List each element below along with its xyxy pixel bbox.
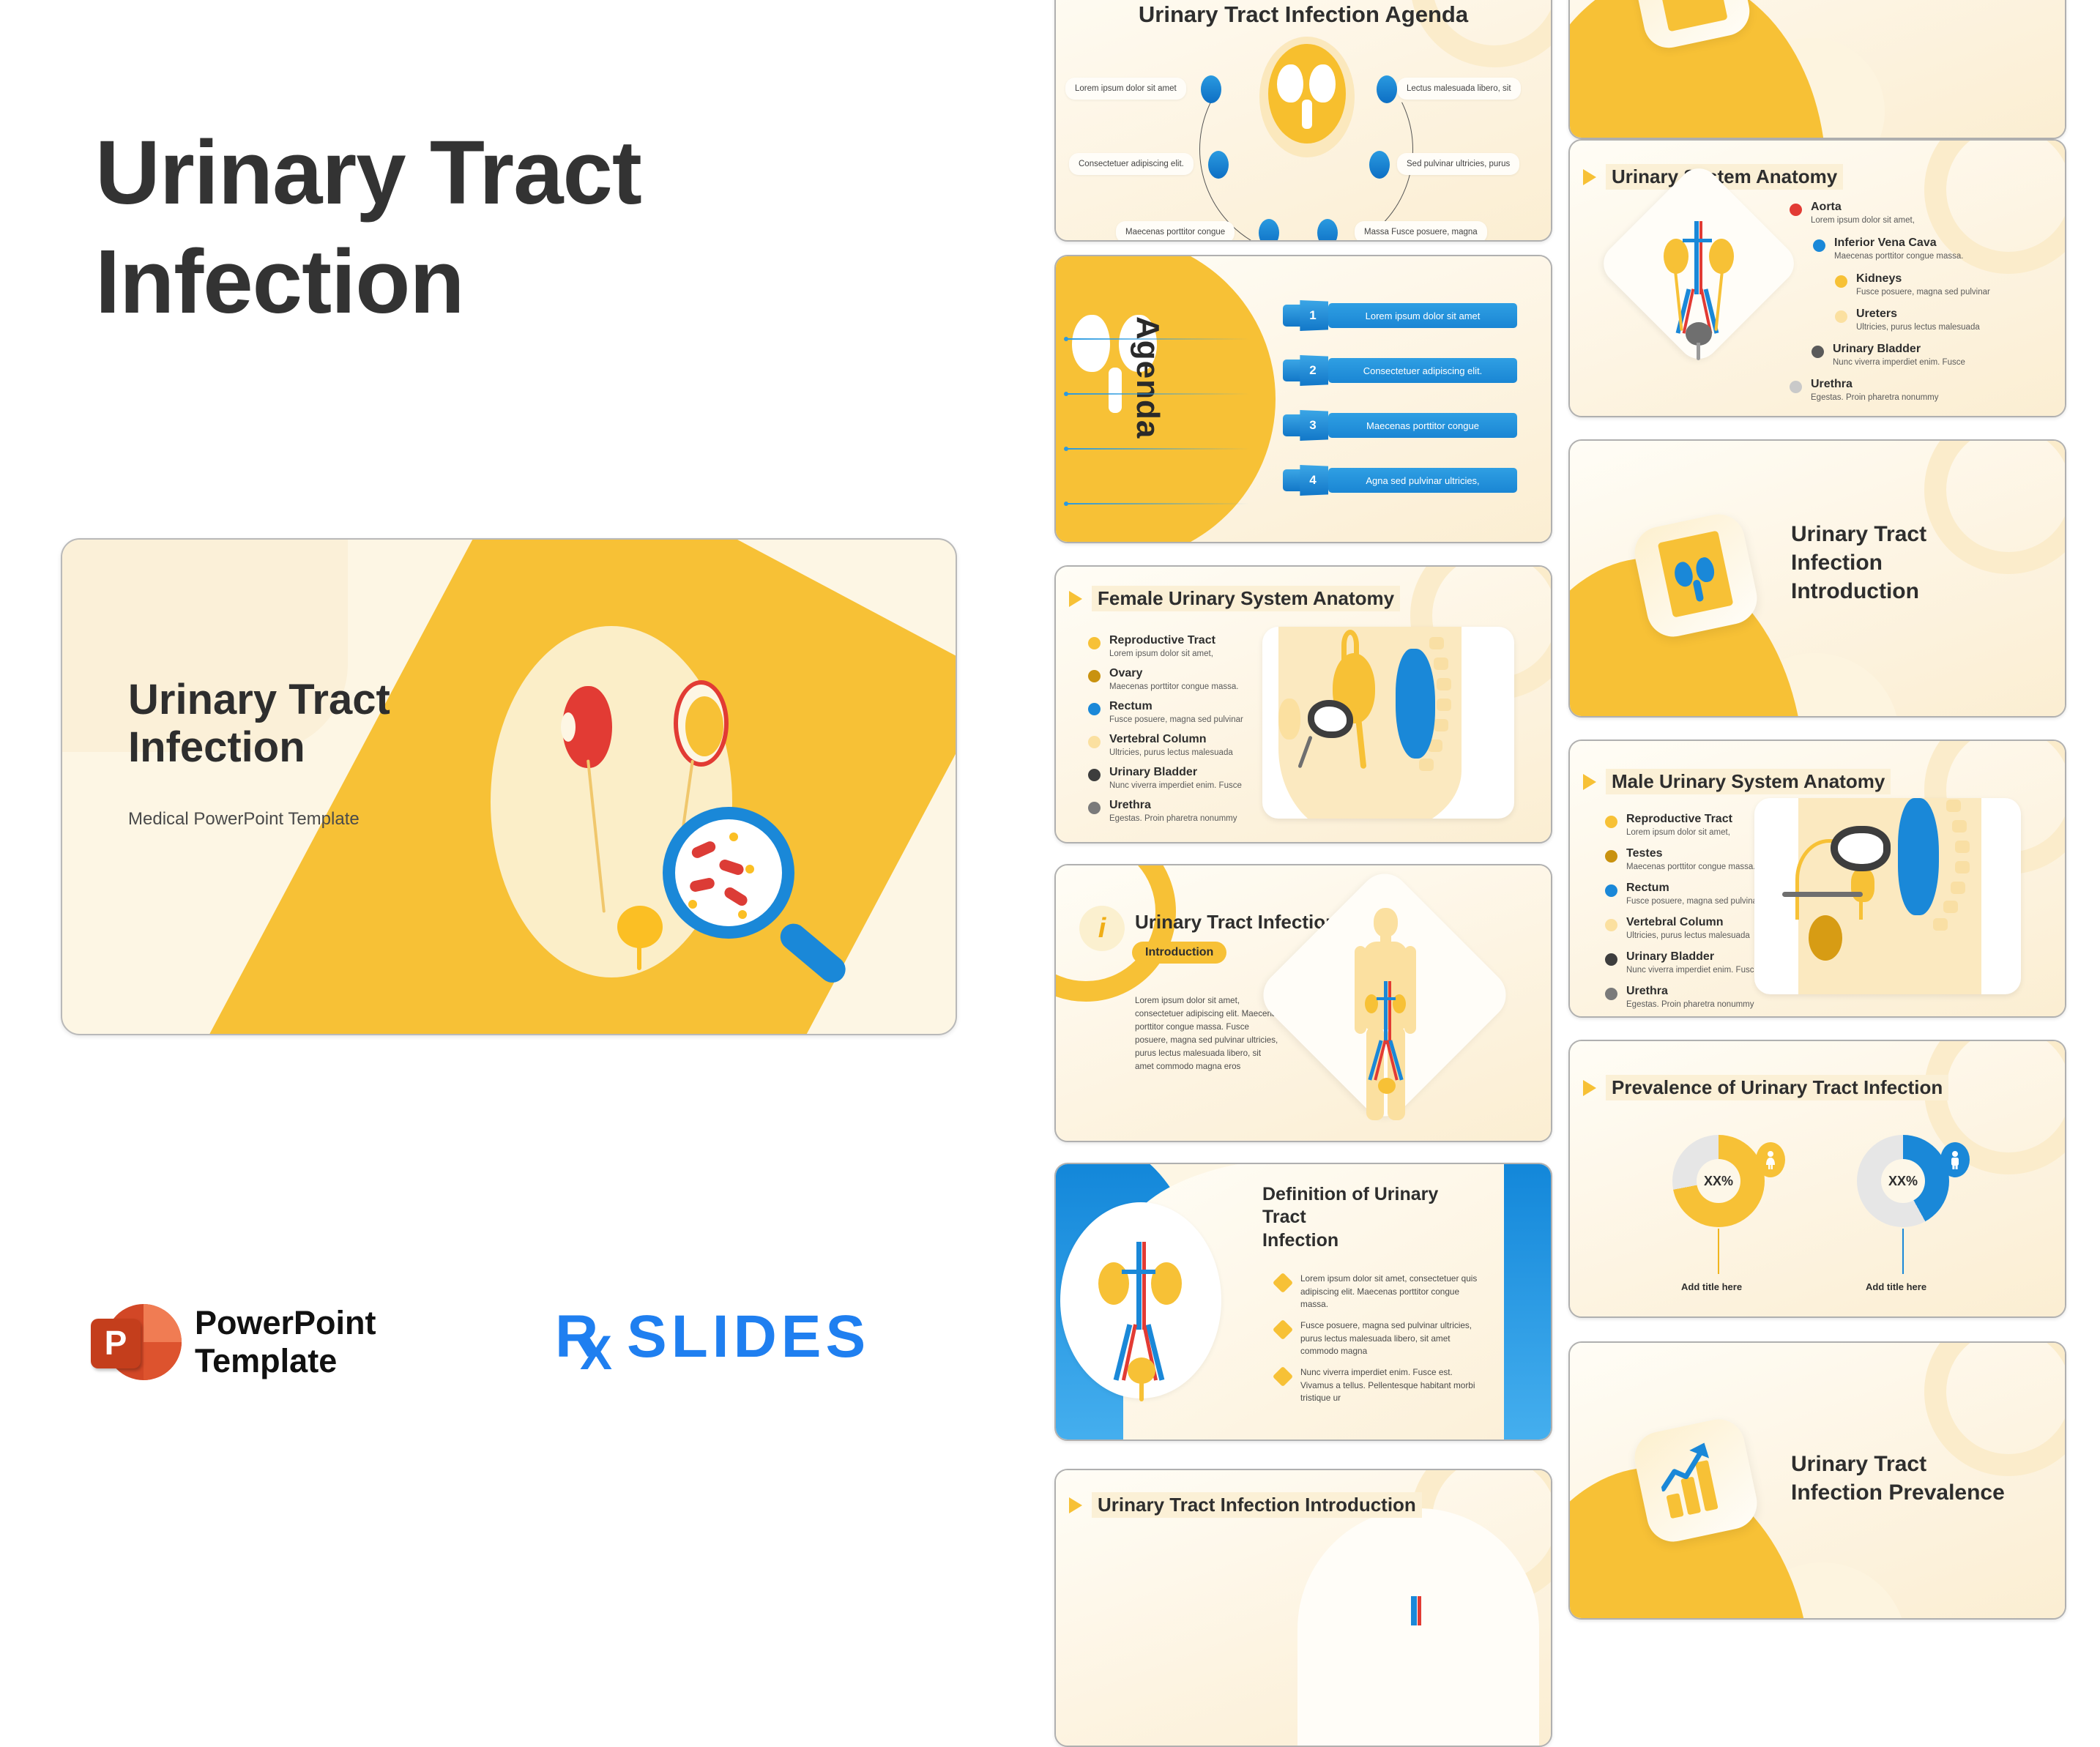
legend-dot	[1605, 884, 1617, 897]
powerpoint-glyph: P	[91, 1319, 141, 1368]
diamond-bullet-icon	[1273, 1319, 1293, 1340]
legend-term: Urinary Bladder	[1109, 766, 1242, 779]
legend-item-3: Vertebral Column Ultricies, purus lectus…	[1088, 733, 1233, 757]
agenda-row-label: Consectetuer adipiscing elit.	[1328, 358, 1517, 383]
legend-dot	[1835, 275, 1847, 288]
donut-caption-female: Add title here	[1681, 1281, 1742, 1292]
agenda-row-4[interactable]: 4 Agna sed pulvinar ultricies,	[1283, 465, 1517, 496]
agenda-row-3[interactable]: 3 Maecenas porttitor congue	[1283, 410, 1517, 441]
powerpoint-label-line1: PowerPoint	[195, 1304, 376, 1341]
agenda-row-tab	[1283, 469, 1302, 491]
urinary-system-illustration	[1664, 193, 1735, 347]
legend-desc: Nunc viverra imperdiet enim. Fusce	[1109, 781, 1242, 790]
legend-desc: Maecenas porttitor congue massa.	[1834, 252, 1963, 261]
leader-line-female	[1718, 1229, 1719, 1274]
legend-desc: Fusce posuere, magna sed pulvinar	[1626, 897, 1760, 906]
bullet-text: Fusce posuere, magna sed pulvinar ultric…	[1300, 1319, 1483, 1358]
legend-desc: Ultricies, purus lectus malesuada	[1856, 323, 1980, 332]
artery-decoration	[1418, 1596, 1421, 1625]
bullet-text: Nunc viverra imperdiet enim. Fusce est. …	[1300, 1366, 1483, 1405]
legend-desc: Nunc viverra imperdiet enim. Fusce	[1833, 358, 1965, 367]
slide-thumb-uti-intro-divider[interactable]: Urinary Tract Infection Introduction	[1568, 439, 2066, 718]
legend-desc: Maecenas porttitor congue massa.	[1626, 863, 1755, 871]
legend-term: Vertebral Column	[1626, 916, 1750, 929]
slide-thumb-agenda-list[interactable]: Agenda 1 Lorem ipsum dolor sit amet 2 Co…	[1054, 255, 1552, 543]
legend-item-0: Aorta Lorem ipsum dolor sit amet,	[1790, 201, 1915, 225]
legend-desc: Lorem ipsum dolor sit amet,	[1109, 649, 1215, 658]
kidney-badge-inner	[1268, 44, 1346, 144]
divider-title-line2: Infection	[1791, 551, 1883, 575]
slide-thumb-prevalence[interactable]: Prevalence of Urinary Tract Infection XX…	[1568, 1040, 2066, 1318]
legend-term: Urethra	[1626, 985, 1754, 998]
definition-title-line1: Definition of Urinary Tract	[1262, 1184, 1438, 1227]
legend-desc: Lorem ipsum dolor sit amet,	[1626, 828, 1732, 837]
triangle-bullet-icon	[1069, 1497, 1082, 1513]
preview-title-line1: Urinary Tract	[128, 676, 390, 723]
human-body-illustration	[1347, 908, 1423, 1120]
legend-term: Inferior Vena Cava	[1834, 236, 1963, 250]
agenda-node-1[interactable]	[1201, 75, 1221, 103]
donut-chart-female: XX%	[1672, 1135, 1765, 1227]
slide-thumb-divider-top[interactable]	[1568, 0, 2066, 139]
definition-bullet-0: Lorem ipsum dolor sit amet, consectetuer…	[1276, 1273, 1483, 1311]
agenda-row-label: Lorem ipsum dolor sit amet	[1328, 303, 1517, 328]
hero-title-line2: Infection	[95, 237, 937, 327]
agenda-row-2[interactable]: 2 Consectetuer adipiscing elit.	[1283, 355, 1517, 386]
legend-desc: Maecenas porttitor congue massa.	[1109, 682, 1238, 691]
legend-dot	[1088, 802, 1101, 814]
legend-dot	[1605, 988, 1617, 1000]
legend-dot	[1605, 816, 1617, 828]
agenda-row-number: 2	[1297, 355, 1328, 386]
rx-mark: RX	[555, 1303, 600, 1371]
agenda-row-underline-4	[1066, 503, 1249, 504]
agenda-label-2[interactable]: Consectetuer adipiscing elit.	[1069, 153, 1194, 175]
rx-slides-wordmark: SLIDES	[627, 1303, 870, 1370]
legend-item-0: Reproductive Tract Lorem ipsum dolor sit…	[1605, 813, 1732, 837]
info-icon: i	[1079, 906, 1125, 951]
slide-thumb-urinary-system-anatomy[interactable]: Urinary System Anatomy Aorta Lorem ipsum…	[1568, 139, 2066, 417]
legend-term: Ureters	[1856, 308, 1980, 321]
slide-thumb-agenda-circle[interactable]: Urinary Tract Infection Agenda Lorem ips…	[1054, 0, 1552, 242]
legend-term: Urinary Bladder	[1833, 343, 1965, 356]
donut-value-label: XX%	[1697, 1159, 1740, 1203]
slide-gallery-page: Urinary Tract Infection Urinary Tract In…	[0, 0, 2100, 1576]
slide-title: Urinary Tract Infection Prevalence	[1791, 1450, 2005, 1507]
legend-desc: Egestas. Proin pharetra nonummy	[1811, 393, 1939, 402]
agenda-row-tab	[1283, 414, 1302, 436]
triangle-bullet-icon	[1583, 1080, 1596, 1096]
agenda-row-underline-3	[1066, 448, 1249, 450]
legend-dot	[1088, 637, 1101, 649]
legend-desc: Lorem ipsum dolor sit amet,	[1811, 216, 1915, 225]
divider-title-line1: Urinary Tract	[1791, 522, 1926, 546]
definition-title-line2: Infection	[1262, 1230, 1338, 1251]
vein-decoration	[1411, 1596, 1417, 1625]
magnifier-icon	[663, 807, 794, 939]
agenda-node-2[interactable]	[1208, 151, 1229, 179]
rxslides-logo[interactable]: RX SLIDES	[555, 1303, 870, 1371]
powerpoint-template-label: PowerPoint Template	[195, 1304, 376, 1380]
legend-desc: Ultricies, purus lectus malesuada	[1626, 931, 1750, 940]
legend-item-1: Inferior Vena Cava Maecenas porttitor co…	[1813, 236, 1963, 261]
legend-item-4: Urinary Bladder Nunc viverra imperdiet e…	[1088, 766, 1242, 790]
slide-thumb-uti-intro-heading[interactable]: Urinary Tract Infection Introduction	[1054, 1469, 1552, 1747]
agenda-row-tab	[1283, 360, 1302, 381]
legend-desc: Fusce posuere, magna sed pulvinar	[1856, 288, 1990, 297]
male-icon	[1940, 1142, 1970, 1177]
legend-item-4: Urinary Bladder Nunc viverra imperdiet e…	[1812, 343, 1965, 367]
slide-heading: Urinary Tract Infection Introduction	[1069, 1492, 1422, 1518]
agenda-row-number: 3	[1297, 410, 1328, 441]
triangle-bullet-icon	[1069, 591, 1082, 607]
donut-value-label: XX%	[1881, 1159, 1925, 1203]
legend-dot	[1088, 769, 1101, 781]
slide-title: Prevalence of Urinary Tract Infection	[1606, 1075, 1948, 1100]
divider-title-line3: Introduction	[1791, 579, 1919, 603]
slide-title: Definition of Urinary Tract Infection	[1262, 1183, 1482, 1252]
legend-dot	[1605, 850, 1617, 863]
legend-term: Kidneys	[1856, 272, 1990, 286]
legend-item-0: Reproductive Tract Lorem ipsum dolor sit…	[1088, 634, 1215, 658]
agenda-row-1[interactable]: 1 Lorem ipsum dolor sit amet	[1283, 300, 1517, 331]
agenda-row-underline-1	[1066, 338, 1249, 340]
divider-title-line1: Urinary Tract	[1791, 1452, 1926, 1476]
slide-thumb-male-anatomy[interactable]: Male Urinary System Anatomy Reproductive…	[1568, 740, 2066, 1018]
bullet-text: Lorem ipsum dolor sit amet, consectetuer…	[1300, 1273, 1483, 1311]
legend-dot	[1790, 381, 1802, 393]
hero-title-line1: Urinary Tract	[95, 123, 641, 223]
kidney-icon	[1658, 530, 1734, 617]
triangle-bullet-icon	[1583, 169, 1596, 185]
slide-heading: Male Urinary System Anatomy	[1583, 769, 1891, 794]
legend-item-3: Vertebral Column Ultricies, purus lectus…	[1605, 916, 1750, 940]
agenda-node-5[interactable]	[1369, 151, 1390, 179]
agenda-label-5[interactable]: Sed pulvinar ultricies, purus	[1397, 153, 1519, 175]
legend-desc: Egestas. Proin pharetra nonummy	[1109, 814, 1237, 823]
definition-bullet-2: Nunc viverra imperdiet enim. Fusce est. …	[1276, 1366, 1483, 1405]
triangle-bullet-icon	[1583, 774, 1596, 790]
agenda-row-number: 1	[1297, 300, 1328, 331]
legend-item-3: Ureters Ultricies, purus lectus malesuad…	[1835, 308, 1980, 332]
male-glyph	[1948, 1150, 1962, 1169]
slide-heading: Female Urinary System Anatomy	[1069, 586, 1400, 611]
legend-term: Aorta	[1811, 201, 1915, 214]
legend-item-1: Ovary Maecenas porttitor congue massa.	[1088, 667, 1238, 691]
legend-term: Rectum	[1626, 882, 1760, 895]
legend-item-5: Urethra Egestas. Proin pharetra nonummy	[1088, 799, 1237, 823]
slide-title: Urinary Tract Infection Introduction	[1791, 520, 1926, 606]
slide-title: Female Urinary System Anatomy	[1092, 586, 1400, 611]
legend-term: Vertebral Column	[1109, 733, 1233, 746]
legend-item-4: Urinary Bladder Nunc viverra imperdiet e…	[1605, 950, 1759, 975]
legend-item-2: Rectum Fusce posuere, magna sed pulvinar	[1088, 700, 1243, 724]
legend-item-1: Testes Maecenas porttitor congue massa.	[1605, 847, 1755, 871]
slide-title: Urinary Tract Infection	[1135, 911, 1337, 934]
slide-thumb-definition[interactable]: Definition of Urinary Tract Infection Lo…	[1054, 1163, 1552, 1441]
rx-letter-x: X	[580, 1325, 614, 1380]
slide-title: Urinary Tract Infection Agenda	[1056, 1, 1551, 28]
definition-bullet-1: Fusce posuere, magna sed pulvinar ultric…	[1276, 1319, 1483, 1358]
legend-dot	[1088, 736, 1101, 748]
legend-item-2: Rectum Fusce posuere, magna sed pulvinar	[1605, 882, 1760, 906]
slide-heading: Prevalence of Urinary Tract Infection	[1583, 1075, 1948, 1100]
legend-dot	[1088, 670, 1101, 682]
preview-slide-subtitle: Medical PowerPoint Template	[128, 809, 494, 830]
branding-row: P PowerPoint Template RX SLIDES	[86, 1300, 965, 1395]
preview-slide-card[interactable]: Urinary Tract Infection Medical PowerPoi…	[61, 538, 957, 1035]
diamond-bullet-icon	[1273, 1273, 1293, 1293]
page-title: Urinary Tract Infection	[95, 128, 937, 327]
legend-dot	[1088, 703, 1101, 715]
legend-dot	[1835, 310, 1847, 323]
left-panel: Urinary Tract Infection Urinary Tract In…	[0, 0, 1025, 1576]
agenda-label-1[interactable]: Lorem ipsum dolor sit amet	[1065, 78, 1186, 100]
agenda-row-tab	[1283, 305, 1302, 327]
kidney-cross-section-icon	[674, 680, 729, 767]
preview-slide-title: Urinary Tract Infection	[128, 677, 472, 772]
section-badge: Introduction	[1132, 942, 1226, 964]
female-glyph	[1764, 1150, 1777, 1169]
preview-title-line2: Infection	[128, 723, 305, 771]
powerpoint-label-line2: Template	[195, 1342, 337, 1379]
agenda-label-6[interactable]: Massa Fusce posuere, magna	[1355, 221, 1487, 242]
bladder-icon	[617, 906, 663, 948]
legend-item-5: Urethra Egestas. Proin pharetra nonummy	[1790, 378, 1939, 402]
kidney-icon	[562, 686, 612, 768]
legend-desc: Ultricies, purus lectus malesuada	[1109, 748, 1233, 757]
legend-term: Testes	[1626, 847, 1755, 860]
slide-title: Male Urinary System Anatomy	[1606, 769, 1891, 794]
agenda-row-label: Maecenas porttitor congue	[1328, 413, 1517, 438]
agenda-node-3[interactable]	[1259, 219, 1279, 242]
legend-term: Urethra	[1811, 378, 1939, 391]
slide-thumb-uti-introduction[interactable]: i Urinary Tract Infection Introduction L…	[1054, 864, 1552, 1142]
donut-caption-male: Add title here	[1866, 1281, 1926, 1292]
slide-thumb-prevalence-divider[interactable]: Urinary Tract Infection Prevalence	[1568, 1341, 2066, 1620]
agenda-node-4[interactable]	[1317, 219, 1338, 242]
legend-item-5: Urethra Egestas. Proin pharetra nonummy	[1605, 985, 1754, 1009]
legend-dot	[1790, 204, 1802, 216]
legend-term: Urinary Bladder	[1626, 950, 1759, 964]
legend-dot	[1605, 953, 1617, 966]
female-icon	[1756, 1142, 1785, 1177]
legend-desc: Nunc viverra imperdiet enim. Fusce	[1626, 966, 1759, 975]
legend-term: Reproductive Tract	[1109, 634, 1215, 647]
agenda-row-number: 4	[1297, 465, 1328, 496]
agenda-label-4[interactable]: Lectus malesuada libero, sit	[1397, 78, 1521, 100]
legend-dot	[1813, 239, 1825, 252]
agenda-word: Agenda	[1129, 316, 1166, 439]
legend-term: Urethra	[1109, 799, 1237, 812]
slide-title: Urinary Tract Infection Introduction	[1092, 1492, 1422, 1518]
diamond-bullet-icon	[1273, 1366, 1293, 1387]
legend-term: Reproductive Tract	[1626, 813, 1732, 826]
female-anatomy-illustration	[1262, 627, 1514, 819]
slide-paragraph: Lorem ipsum dolor sit amet, consectetuer…	[1135, 994, 1281, 1073]
kidney-icon-tile	[1630, 510, 1762, 641]
urinary-system-illustration	[1060, 1202, 1221, 1398]
legend-term: Rectum	[1109, 700, 1243, 713]
chart-icon-tile	[1630, 1415, 1762, 1546]
slide-thumb-female-anatomy[interactable]: Female Urinary System Anatomy Reproducti…	[1054, 565, 1552, 843]
male-anatomy-illustration	[1754, 798, 2021, 994]
hill-shape-decoration	[1297, 1508, 1539, 1747]
legend-desc: Egestas. Proin pharetra nonummy	[1626, 1000, 1754, 1009]
divider-title-line2: Infection Prevalence	[1791, 1480, 2005, 1505]
leader-line-male	[1902, 1229, 1904, 1274]
legend-term: Ovary	[1109, 667, 1238, 680]
agenda-label-3[interactable]: Maecenas porttitor congue	[1116, 221, 1235, 242]
legend-dot	[1605, 919, 1617, 931]
agenda-row-label: Agna sed pulvinar ultricies,	[1328, 468, 1517, 493]
agenda-node-6[interactable]	[1377, 75, 1397, 103]
donut-chart-male: XX%	[1857, 1135, 1949, 1227]
agenda-row-underline-2	[1066, 393, 1249, 395]
powerpoint-logo-icon: P	[86, 1300, 173, 1386]
legend-desc: Fusce posuere, magna sed pulvinar	[1109, 715, 1243, 724]
legend-item-2: Kidneys Fusce posuere, magna sed pulvina…	[1835, 272, 1990, 297]
legend-dot	[1812, 346, 1824, 358]
